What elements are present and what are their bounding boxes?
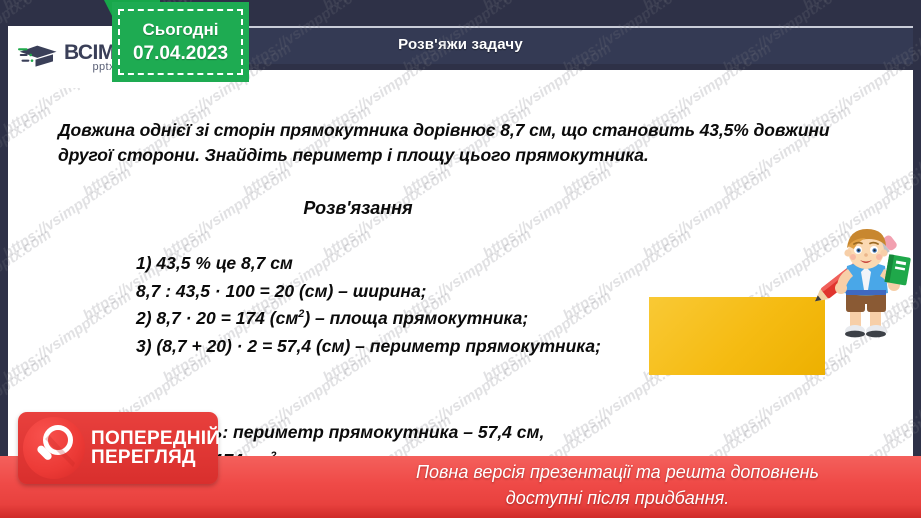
date-badge: Сьогодні 07.04.2023 [112,2,249,82]
problem-statement: Довжина однієї зі сторін прямокутника до… [58,118,878,168]
watermark-text: https://vsimpptx.com [480,0,615,14]
watermark-text: https://vsimpptx.com [320,0,455,14]
boy-with-pencil-and-book-illustration [812,222,920,342]
preview-badge: ПОПЕРЕДНІЙ ПЕРЕГЛЯД [18,412,218,484]
slide-canvas: Розв'яжи задачу ВСІМ pptx Сьогодні 07.04… [0,0,921,518]
date-badge-value: 07.04.2023 [133,43,228,65]
brand-name: ВСІМ [64,42,115,63]
answer-line-1: Відповідь: периметр прямокутника – 57,4 … [136,418,876,446]
watermark-text: https://vsimpptx.com [800,0,921,14]
date-badge-label: Сьогодні [143,20,219,40]
magnifier-icon [23,417,85,479]
preview-badge-line-2: ПЕРЕГЛЯД [91,448,220,467]
preview-message-line-1: Повна версія презентації та решта доповн… [320,460,915,486]
solution-heading: Розв'язання [8,198,708,219]
date-badge-inner: Сьогодні 07.04.2023 [118,9,243,75]
yellow-rectangle-figure [649,297,825,375]
solution-step: 1) 43,5 % це 8,7 см [136,250,836,278]
preview-badge-line-1: ПОПЕРЕДНІЙ [91,429,220,448]
watermark-text: https://vsimpptx.com [640,0,775,14]
preview-message-line-2: доступні після придбання. [320,486,915,512]
brand-logo-text: ВСІМ pptx [64,42,115,73]
preview-badge-text: ПОПЕРЕДНІЙ ПЕРЕГЛЯД [91,429,220,468]
preview-message: Повна версія презентації та решта доповн… [320,460,915,511]
preview-badge-circle [23,417,85,479]
graduation-cap-icon [18,40,60,74]
